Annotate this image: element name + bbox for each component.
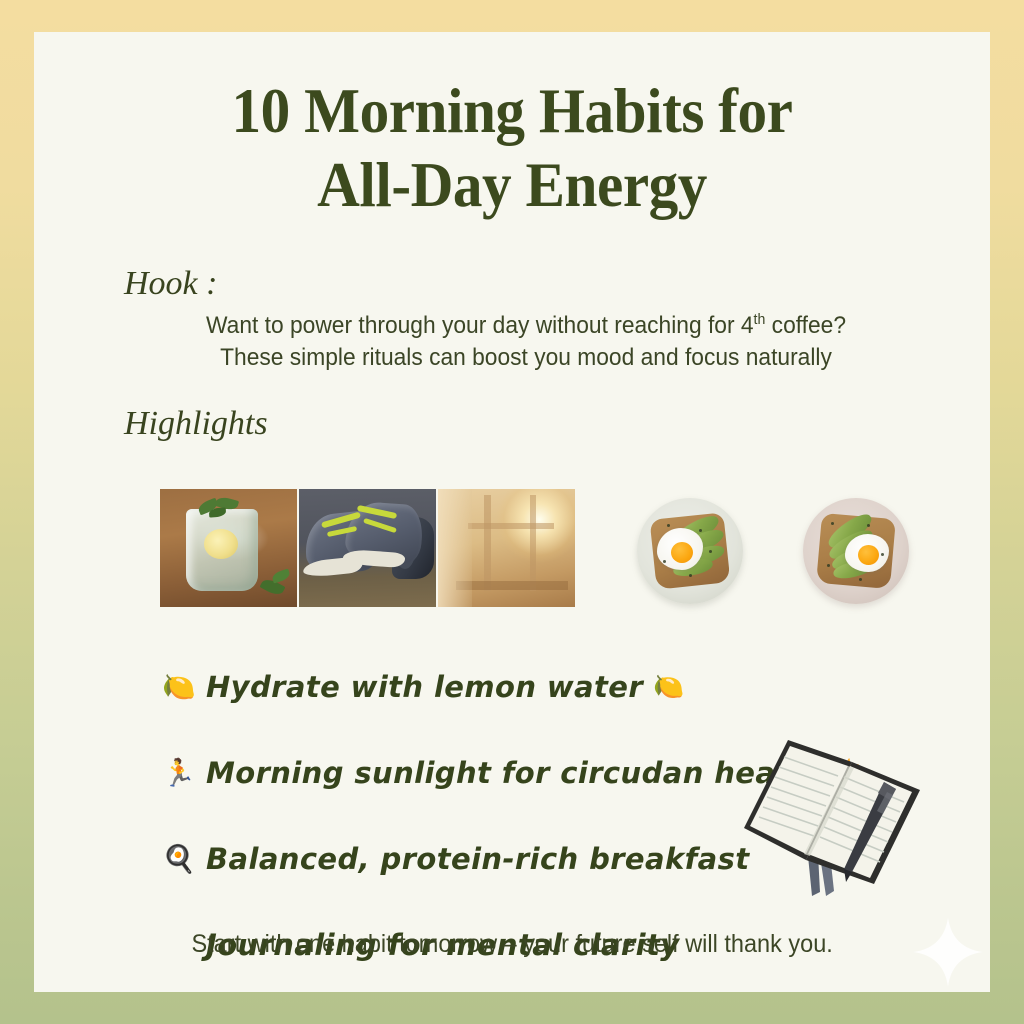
lemon-icon-trailing: 🍋 — [653, 675, 684, 700]
hook-label: Hook : — [124, 264, 914, 304]
fried-egg-icon: 🍳 — [162, 846, 206, 873]
footer-cta-text: Start with one habit tomorrow – your fut… — [191, 930, 832, 959]
highlights-label: Highlights — [124, 404, 268, 444]
open-notebook-with-pen — [724, 720, 944, 910]
hook-line-1: Want to power through your day without r… — [165, 310, 887, 342]
hook-line-1-before: Want to power through your day without r… — [206, 312, 754, 339]
title-line-2: All-Day Energy — [63, 148, 962, 222]
habit-label-1: Hydrate with lemon water — [206, 670, 643, 704]
avocado-toast-plate-2 — [803, 498, 909, 604]
hook-section: Hook : Want to power through your day wi… — [124, 264, 914, 374]
highlights-photo-strip — [160, 489, 575, 607]
hook-line-2: These simple rituals can boost you mood … — [165, 342, 887, 374]
title-line-1: 10 Morning Habits for — [63, 74, 962, 148]
habit-label-3: Balanced, protein-rich breakfast — [206, 842, 750, 876]
sunlit-window-photo — [438, 489, 575, 607]
runner-icon: 🏃 — [162, 760, 206, 787]
hook-line-1-after: coffee? — [765, 312, 846, 339]
footer-cta: Start with one habit tomorrow – your fut… — [34, 930, 990, 959]
running-shoes-photo — [299, 489, 436, 607]
hook-body: Want to power through your day without r… — [124, 310, 914, 374]
poster-canvas: 10 Morning Habits for All-Day Energy Hoo… — [0, 0, 1024, 1024]
list-item[interactable]: 🍋 Hydrate with lemon water 🍋 — [162, 644, 842, 730]
sparkle-star-icon — [912, 916, 984, 988]
page-title: 10 Morning Habits for All-Day Energy — [34, 74, 990, 222]
hook-ordinal-suffix: th — [754, 311, 766, 328]
avocado-toast-plate-1 — [637, 498, 743, 604]
lemon-icon: 🍋 — [162, 674, 206, 701]
notebook-svg — [724, 720, 944, 910]
lemon-water-photo — [160, 489, 297, 607]
infographic-card: 10 Morning Habits for All-Day Energy Hoo… — [34, 32, 990, 992]
